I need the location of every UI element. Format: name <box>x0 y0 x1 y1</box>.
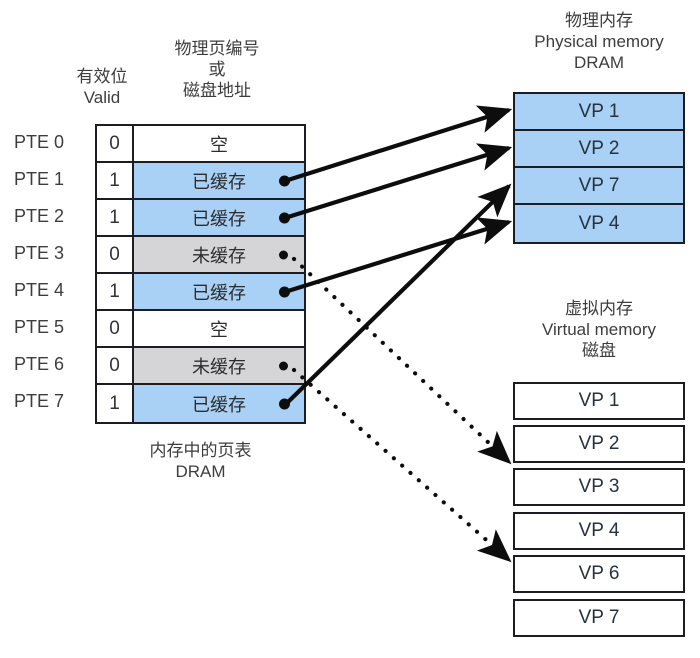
entry-content-2: 已缓存 <box>134 200 304 235</box>
page-table-caption-cn: 内存中的页表 <box>95 440 306 461</box>
virtual-memory-heading-en: Virtual memory <box>509 319 689 340</box>
table-row: 1 已缓存 <box>97 274 304 311</box>
valid-heading-en: Valid <box>62 87 142 108</box>
pte-label-0: PTE 0 <box>14 124 90 161</box>
entry-text-1: 已缓存 <box>192 168 246 194</box>
pointer-dot-icon <box>279 361 288 370</box>
page-table-caption-en: DRAM <box>95 461 306 482</box>
page-table: 0 空 1 已缓存 1 已缓存 0 未缓存 <box>95 124 306 424</box>
entry-text-6: 未缓存 <box>192 353 246 379</box>
valid-bit-1: 1 <box>97 163 134 198</box>
entry-text-0: 空 <box>210 131 228 157</box>
pointer-dot-icon <box>279 286 290 297</box>
physical-memory-heading: 物理内存 Physical memory DRAM <box>509 10 689 73</box>
table-row: 1 已缓存 <box>97 385 304 422</box>
physical-page-row: VP 1 <box>515 94 683 131</box>
pte-label-3: PTE 3 <box>14 235 90 272</box>
virtual-page-row: VP 1 <box>513 382 685 420</box>
entry-content-7: 已缓存 <box>134 385 304 422</box>
table-row: 1 已缓存 <box>97 163 304 200</box>
entry-text-3: 未缓存 <box>192 242 246 268</box>
physical-memory-heading-en: Physical memory <box>509 31 689 52</box>
content-column-heading: 物理页编号 或 磁盘地址 <box>142 38 292 101</box>
entry-content-1: 已缓存 <box>134 163 304 198</box>
table-row: 0 空 <box>97 311 304 348</box>
valid-bit-2: 1 <box>97 200 134 235</box>
pte-label-6: PTE 6 <box>14 346 90 383</box>
entry-text-2: 已缓存 <box>192 205 246 231</box>
physical-memory-heading-medium: DRAM <box>509 52 689 73</box>
virtual-memory-heading-medium: 磁盘 <box>509 340 689 361</box>
physical-page-row: VP 4 <box>515 205 683 242</box>
arrow-pte4-to-vp4 <box>288 222 509 291</box>
pointer-dot-icon <box>279 212 290 223</box>
table-row: 1 已缓存 <box>97 200 304 237</box>
virtual-page-row: VP 3 <box>513 468 685 506</box>
entry-content-4: 已缓存 <box>134 274 304 309</box>
entry-text-5: 空 <box>210 316 228 342</box>
valid-bit-6: 0 <box>97 348 134 383</box>
valid-bit-3: 0 <box>97 237 134 272</box>
valid-heading-cn: 有效位 <box>62 66 142 87</box>
arrow-pte7-to-vp7 <box>288 186 509 402</box>
valid-bit-7: 1 <box>97 385 134 422</box>
table-row: 0 空 <box>97 126 304 163</box>
virtual-page-row: VP 7 <box>513 599 685 637</box>
table-row: 0 未缓存 <box>97 237 304 274</box>
arrow-pte3-to-vp3 <box>294 259 509 462</box>
valid-bit-5: 0 <box>97 311 134 346</box>
table-row: 0 未缓存 <box>97 348 304 385</box>
virtual-page-row: VP 6 <box>513 555 685 593</box>
physical-memory-box: VP 1 VP 2 VP 7 VP 4 <box>513 92 685 244</box>
physical-page-row: VP 2 <box>515 131 683 168</box>
page-table-diagram: 有效位 Valid 物理页编号 或 磁盘地址 PTE 0 PTE 1 PTE 2… <box>0 0 700 658</box>
entry-text-7: 已缓存 <box>192 391 246 417</box>
pte-label-2: PTE 2 <box>14 198 90 235</box>
arrow-pte6-to-vp6 <box>294 370 509 560</box>
arrow-pte1-to-vp1 <box>288 110 509 180</box>
entry-text-4: 已缓存 <box>192 279 246 305</box>
pte-label-1: PTE 1 <box>14 161 90 198</box>
virtual-page-row: VP 2 <box>513 425 685 463</box>
entry-content-6: 未缓存 <box>134 348 304 383</box>
content-heading-line1: 物理页编号 <box>142 38 292 59</box>
physical-memory-heading-cn: 物理内存 <box>509 10 689 31</box>
pointer-dot-icon <box>279 175 290 186</box>
pte-label-4: PTE 4 <box>14 272 90 309</box>
content-heading-line3: 磁盘地址 <box>142 80 292 101</box>
pointer-dot-icon <box>279 250 288 259</box>
arrow-pte2-to-vp2 <box>288 148 509 217</box>
pte-label-5: PTE 5 <box>14 309 90 346</box>
virtual-page-row: VP 4 <box>513 512 685 550</box>
virtual-memory-heading-cn: 虚拟内存 <box>509 298 689 319</box>
valid-bit-4: 1 <box>97 274 134 309</box>
page-table-caption: 内存中的页表 DRAM <box>95 440 306 482</box>
pointer-dot-icon <box>279 398 290 409</box>
entry-content-3: 未缓存 <box>134 237 304 272</box>
physical-page-row: VP 7 <box>515 168 683 205</box>
virtual-memory-heading: 虚拟内存 Virtual memory 磁盘 <box>509 298 689 361</box>
entry-content-0: 空 <box>134 126 304 161</box>
content-heading-line2: 或 <box>142 59 292 80</box>
entry-content-5: 空 <box>134 311 304 346</box>
valid-column-heading: 有效位 Valid <box>62 66 142 108</box>
pte-label-7: PTE 7 <box>14 383 90 420</box>
valid-bit-0: 0 <box>97 126 134 161</box>
